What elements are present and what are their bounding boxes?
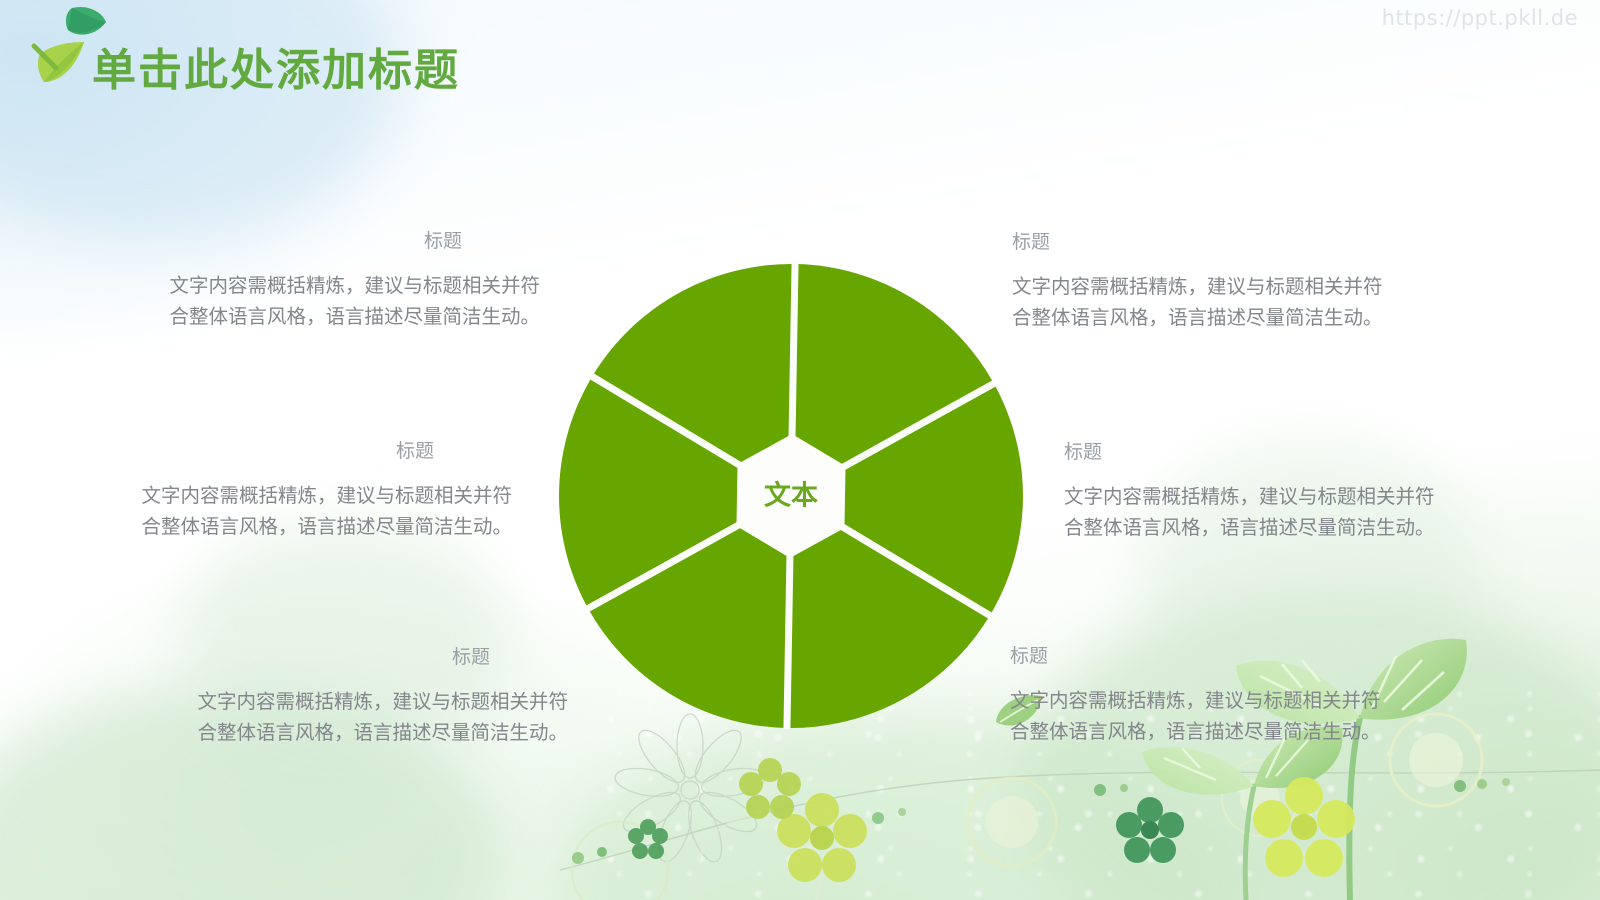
block-body: 文字内容需概括精炼，建议与标题相关并符合整体语言风格，语言描述尽量简洁生动。 xyxy=(1064,481,1436,543)
watermark-url: https://ppt.pkll.de xyxy=(1382,6,1578,30)
block-title: 标题 xyxy=(140,438,512,464)
block-body: 文字内容需概括精炼，建议与标题相关并符合整体语言风格，语言描述尽量简洁生动。 xyxy=(1012,271,1384,333)
six-segment-pie-diagram[interactable]: 文本 xyxy=(545,250,1037,742)
page-title: 单击此处添加标题 xyxy=(92,34,460,98)
block-body: 文字内容需概括精炼，建议与标题相关并符合整体语言风格，语言描述尽量简洁生动。 xyxy=(168,270,540,332)
block-title: 标题 xyxy=(1064,439,1436,465)
block-title: 标题 xyxy=(1012,229,1384,255)
block-title: 标题 xyxy=(168,228,540,254)
block-body: 文字内容需概括精炼，建议与标题相关并符合整体语言风格，语言描述尽量简洁生动。 xyxy=(196,686,568,748)
text-block-bottom-right[interactable]: 标题 文字内容需概括精炼，建议与标题相关并符合整体语言风格，语言描述尽量简洁生动… xyxy=(1010,643,1382,747)
block-title: 标题 xyxy=(1010,643,1382,669)
block-body: 文字内容需概括精炼，建议与标题相关并符合整体语言风格，语言描述尽量简洁生动。 xyxy=(140,480,512,542)
text-block-middle-right[interactable]: 标题 文字内容需概括精炼，建议与标题相关并符合整体语言风格，语言描述尽量简洁生动… xyxy=(1064,439,1436,543)
text-block-middle-left[interactable]: 标题 文字内容需概括精炼，建议与标题相关并符合整体语言风格，语言描述尽量简洁生动… xyxy=(140,438,512,542)
sprout-small xyxy=(1142,726,1343,900)
slide-canvas: 单击此处添加标题 https://ppt.pkll.de xyxy=(0,0,1600,900)
text-block-top-left[interactable]: 标题 文字内容需概括精炼，建议与标题相关并符合整体语言风格，语言描述尽量简洁生动… xyxy=(168,228,540,332)
block-title: 标题 xyxy=(196,644,568,670)
center-label: 文本 xyxy=(764,480,818,512)
block-body: 文字内容需概括精炼，建议与标题相关并符合整体语言风格，语言描述尽量简洁生动。 xyxy=(1010,685,1382,747)
text-block-bottom-left[interactable]: 标题 文字内容需概括精炼，建议与标题相关并符合整体语言风格，语言描述尽量简洁生动… xyxy=(196,644,568,748)
text-block-top-right[interactable]: 标题 文字内容需概括精炼，建议与标题相关并符合整体语言风格，语言描述尽量简洁生动… xyxy=(1012,229,1384,333)
